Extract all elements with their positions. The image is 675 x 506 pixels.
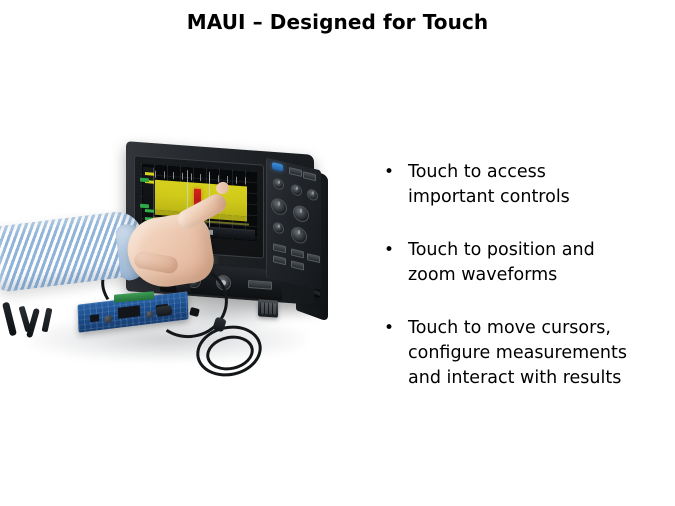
product-photo [0,130,345,390]
pcb-chip-2 [90,314,99,322]
clear-sweeps-button[interactable] [273,255,286,265]
knob-offset-2[interactable] [293,204,309,224]
menu-button-1[interactable] [289,167,302,177]
default-setup-button[interactable] [291,260,304,270]
knob-timebase[interactable] [273,221,284,235]
softkey-indicator-2 [140,204,149,209]
run-stop-button[interactable] [273,243,286,253]
channel-indicator-c1 [145,172,154,176]
bullet-text: Touch to position and zoom waveforms [408,238,658,288]
channel-indicator-c3 [145,209,154,213]
knob-vertical-2[interactable] [291,183,302,197]
bullet-marker-icon: • [378,316,408,341]
list-item: • Touch to access important controls [378,160,658,210]
softkey-indicator-1 [140,178,149,183]
menu-button-2[interactable] [303,171,316,181]
single-button[interactable] [291,248,304,258]
scope-control-panel [266,158,321,291]
knob-trigger-level[interactable] [291,225,307,245]
bullet-marker-icon: • [378,160,408,185]
list-item: • Touch to move cursors, configure measu… [378,316,658,391]
bullet-list: • Touch to access important controls • T… [378,160,658,391]
bullet-marker-icon: • [378,238,408,263]
bullet-text: Touch to move cursors, configure measure… [408,316,658,391]
knob-offset-1[interactable] [271,197,287,217]
front-panel-slot[interactable] [248,280,272,290]
list-item: • Touch to position and zoom waveforms [378,238,658,288]
slide: MAUI – Designed for Touch [0,0,675,506]
page-title: MAUI – Designed for Touch [0,10,675,34]
knob-vertical-1[interactable] [273,177,284,191]
bullet-text: Touch to access important controls [408,160,658,210]
scope-foot-right [258,299,278,317]
knob-vertical-3[interactable] [307,188,318,202]
auto-button[interactable] [307,253,320,263]
probe-clip-left [2,302,17,337]
autosetup-button[interactable] [272,162,283,172]
foot-ridges-right [260,302,276,314]
